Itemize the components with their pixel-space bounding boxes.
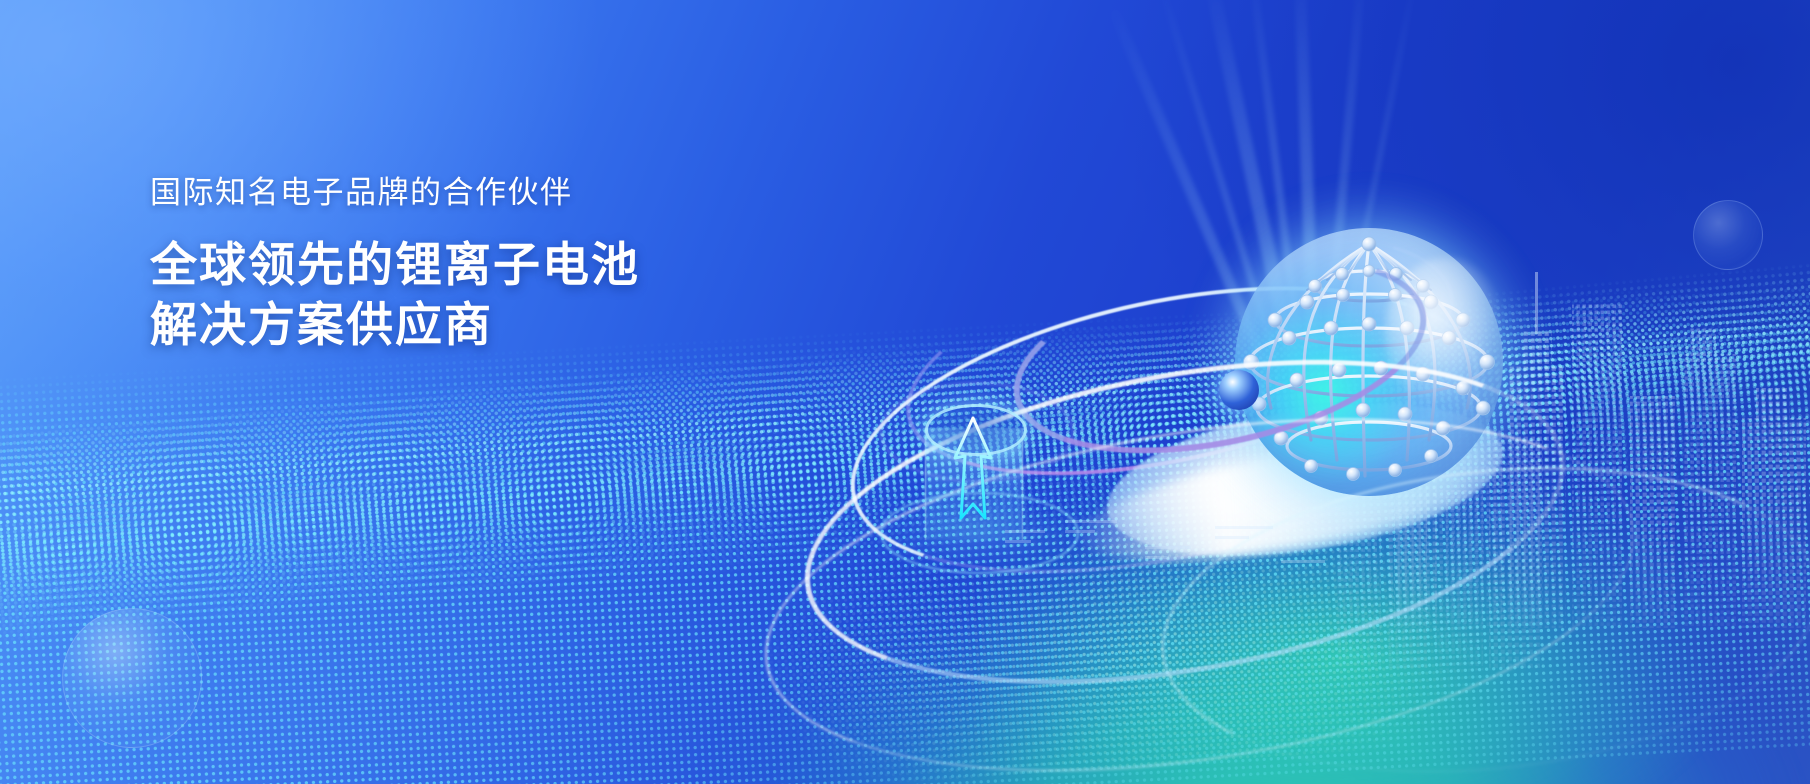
hero-headline: 全球领先的锂离子电池 解决方案供应商 [150,235,640,355]
data-tick-marks [1005,520,1335,640]
hero-headline-line-2: 解决方案供应商 [150,295,640,355]
hero-eyebrow: 国际知名电子品牌的合作伙伴 [150,174,640,213]
hero-headline-line-1: 全球领先的锂离子电池 [150,235,640,295]
upward-growth-arrow-icon [950,412,996,524]
hero-text-block: 国际知名电子品牌的合作伙伴 全球领先的锂离子电池 解决方案供应商 [150,174,640,355]
tech-scene [0,0,1810,784]
hero-banner: 国际知名电子品牌的合作伙伴 全球领先的锂离子电池 解决方案供应商 [0,0,1810,784]
